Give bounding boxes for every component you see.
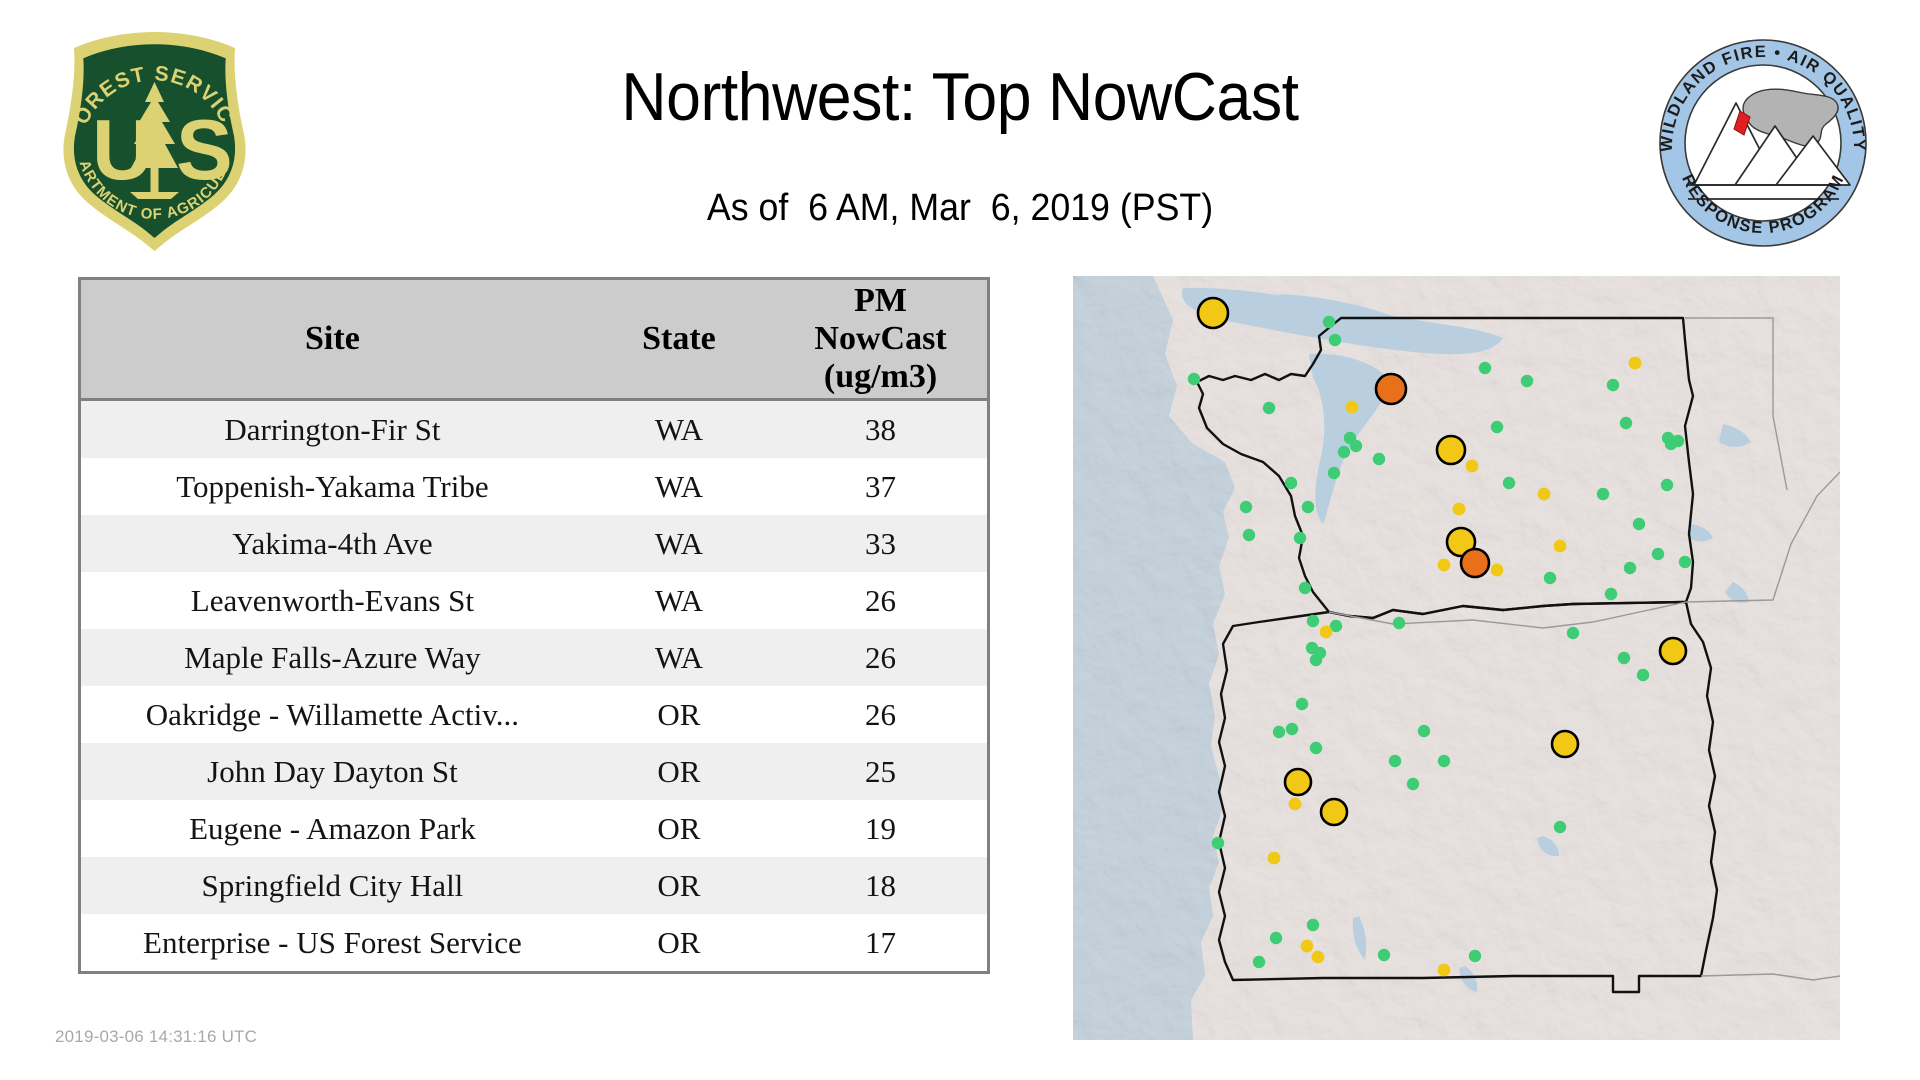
cell-state: OR: [584, 686, 774, 743]
cell-site: John Day Dayton St: [81, 743, 584, 800]
monitor-marker-good[interactable]: [1253, 956, 1265, 968]
page-title: Northwest: Top NowCast: [77, 58, 1843, 136]
column-header-state: State: [584, 280, 774, 400]
monitor-marker-top-nowcast[interactable]: [1285, 769, 1311, 795]
pm-header-line-1: PM: [774, 282, 987, 320]
monitor-marker-good[interactable]: [1338, 446, 1350, 458]
monitor-marker-good[interactable]: [1188, 373, 1200, 385]
monitor-marker-good[interactable]: [1310, 654, 1322, 666]
monitor-marker-good[interactable]: [1469, 950, 1481, 962]
cell-site: Oakridge - Willamette Activ...: [81, 686, 584, 743]
monitor-marker-good[interactable]: [1307, 615, 1319, 627]
relief-shading: [1073, 276, 1840, 1040]
monitor-marker-good[interactable]: [1393, 617, 1405, 629]
monitor-marker-moderate[interactable]: [1312, 951, 1325, 964]
column-header-site: Site: [81, 280, 584, 400]
page-subtitle: As of 6 AM, Mar 6, 2019 (PST): [58, 185, 1863, 231]
monitor-marker-good[interactable]: [1605, 588, 1617, 600]
monitor-marker-moderate[interactable]: [1438, 559, 1451, 572]
monitor-marker-good[interactable]: [1521, 375, 1533, 387]
cell-site: Springfield City Hall: [81, 857, 584, 914]
monitor-marker-top-nowcast[interactable]: [1198, 298, 1228, 328]
map-canvas: [1073, 276, 1840, 1040]
monitor-marker-top-nowcast[interactable]: [1437, 436, 1465, 464]
monitor-marker-good[interactable]: [1503, 477, 1515, 489]
map-panel[interactable]: [1073, 276, 1840, 1040]
monitor-marker-moderate[interactable]: [1453, 503, 1466, 516]
monitor-marker-moderate[interactable]: [1491, 564, 1504, 577]
table-row: Eugene - Amazon Park OR 19: [81, 800, 987, 857]
cell-state: OR: [584, 857, 774, 914]
cell-state: OR: [584, 914, 774, 971]
table-row: Maple Falls-Azure Way WA 26: [81, 629, 987, 686]
cell-state: WA: [584, 515, 774, 572]
monitor-marker-good[interactable]: [1567, 627, 1579, 639]
monitor-marker-moderate[interactable]: [1268, 852, 1281, 865]
table-row: Springfield City Hall OR 18: [81, 857, 987, 914]
monitor-marker-good[interactable]: [1661, 479, 1673, 491]
monitor-marker-moderate[interactable]: [1538, 488, 1551, 501]
monitor-marker-good[interactable]: [1270, 932, 1282, 944]
monitor-marker-good[interactable]: [1286, 723, 1298, 735]
monitor-marker-good[interactable]: [1597, 488, 1609, 500]
cell-pm: 26: [774, 629, 987, 686]
monitor-marker-good[interactable]: [1240, 501, 1252, 513]
map-basemap: [1073, 276, 1840, 1040]
monitor-marker-good[interactable]: [1418, 725, 1430, 737]
footer-timestamp: 2019-03-06 14:31:16 UTC: [55, 1027, 257, 1047]
cell-state: WA: [584, 400, 774, 459]
monitor-marker-moderate[interactable]: [1629, 357, 1642, 370]
monitor-marker-good[interactable]: [1620, 417, 1632, 429]
monitor-marker-top-nowcast[interactable]: [1321, 799, 1347, 825]
monitor-marker-moderate[interactable]: [1466, 460, 1479, 473]
monitor-marker-moderate[interactable]: [1438, 964, 1451, 977]
cell-pm: 17: [774, 914, 987, 971]
monitor-marker-good[interactable]: [1307, 919, 1319, 931]
cell-site: Leavenworth-Evans St: [81, 572, 584, 629]
monitor-marker-top-nowcast[interactable]: [1461, 549, 1489, 577]
monitor-marker-good[interactable]: [1491, 421, 1503, 433]
table-row: John Day Dayton St OR 25: [81, 743, 987, 800]
monitor-marker-good[interactable]: [1633, 518, 1645, 530]
cell-site: Yakima-4th Ave: [81, 515, 584, 572]
monitor-marker-good[interactable]: [1652, 548, 1664, 560]
cell-site: Darrington-Fir St: [81, 400, 584, 459]
monitor-marker-moderate[interactable]: [1554, 540, 1567, 553]
table-row: Enterprise - US Forest Service OR 17: [81, 914, 987, 971]
cell-state: OR: [584, 800, 774, 857]
monitor-marker-good[interactable]: [1323, 316, 1335, 328]
cell-site: Eugene - Amazon Park: [81, 800, 584, 857]
monitor-marker-good[interactable]: [1637, 669, 1649, 681]
cell-pm: 26: [774, 686, 987, 743]
cell-site: Toppenish-Yakama Tribe: [81, 458, 584, 515]
monitor-marker-moderate[interactable]: [1289, 798, 1302, 811]
monitor-marker-top-nowcast[interactable]: [1660, 638, 1686, 664]
monitor-marker-good[interactable]: [1479, 362, 1491, 374]
monitor-marker-good[interactable]: [1299, 582, 1311, 594]
cell-state: WA: [584, 629, 774, 686]
cell-state: WA: [584, 572, 774, 629]
monitor-marker-good[interactable]: [1310, 742, 1322, 754]
column-header-pm-nowcast: PM NowCast (ug/m3): [774, 280, 987, 400]
cell-pm: 26: [774, 572, 987, 629]
table-row: Yakima-4th Ave WA 33: [81, 515, 987, 572]
monitor-marker-good[interactable]: [1285, 477, 1297, 489]
monitor-marker-good[interactable]: [1329, 334, 1341, 346]
monitor-marker-good[interactable]: [1672, 435, 1684, 447]
monitor-marker-good[interactable]: [1294, 532, 1306, 544]
cell-pm: 18: [774, 857, 987, 914]
monitor-marker-top-nowcast[interactable]: [1552, 731, 1578, 757]
monitor-marker-good[interactable]: [1212, 837, 1224, 849]
cell-pm: 19: [774, 800, 987, 857]
monitor-marker-good[interactable]: [1407, 778, 1419, 790]
monitor-marker-good[interactable]: [1263, 402, 1275, 414]
monitor-marker-good[interactable]: [1302, 501, 1314, 513]
table-header-row: Site State PM NowCast (ug/m3): [81, 280, 987, 400]
monitor-marker-good[interactable]: [1389, 755, 1401, 767]
cell-site: Enterprise - US Forest Service: [81, 914, 584, 971]
monitor-marker-good[interactable]: [1544, 572, 1556, 584]
monitor-marker-good[interactable]: [1624, 562, 1636, 574]
monitor-marker-good[interactable]: [1679, 556, 1691, 568]
cell-site: Maple Falls-Azure Way: [81, 629, 584, 686]
monitor-marker-good[interactable]: [1243, 529, 1255, 541]
monitor-marker-good[interactable]: [1350, 440, 1362, 452]
monitor-marker-good[interactable]: [1438, 755, 1450, 767]
nowcast-table: Site State PM NowCast (ug/m3) Darrington…: [78, 277, 990, 974]
monitor-marker-good[interactable]: [1618, 652, 1630, 664]
monitor-marker-good[interactable]: [1378, 949, 1390, 961]
table-row: Oakridge - Willamette Activ... OR 26: [81, 686, 987, 743]
monitor-marker-moderate[interactable]: [1346, 401, 1359, 414]
cell-state: OR: [584, 743, 774, 800]
pm-header-line-2: NowCast: [774, 320, 987, 358]
table-row: Darrington-Fir St WA 38: [81, 400, 987, 459]
pm-header-line-3: (ug/m3): [774, 358, 987, 396]
monitor-marker-good[interactable]: [1607, 379, 1619, 391]
monitor-marker-good[interactable]: [1373, 453, 1385, 465]
monitor-marker-top-nowcast[interactable]: [1376, 374, 1406, 404]
cell-state: WA: [584, 458, 774, 515]
table-row: Toppenish-Yakama Tribe WA 37: [81, 458, 987, 515]
cell-pm: 33: [774, 515, 987, 572]
monitor-marker-moderate[interactable]: [1301, 940, 1314, 953]
monitor-marker-moderate[interactable]: [1320, 626, 1333, 639]
monitor-marker-good[interactable]: [1554, 821, 1566, 833]
table-row: Leavenworth-Evans St WA 26: [81, 572, 987, 629]
monitor-marker-good[interactable]: [1296, 698, 1308, 710]
cell-pm: 37: [774, 458, 987, 515]
cell-pm: 25: [774, 743, 987, 800]
monitor-marker-good[interactable]: [1328, 467, 1340, 479]
cell-pm: 38: [774, 400, 987, 459]
monitor-marker-good[interactable]: [1273, 726, 1285, 738]
